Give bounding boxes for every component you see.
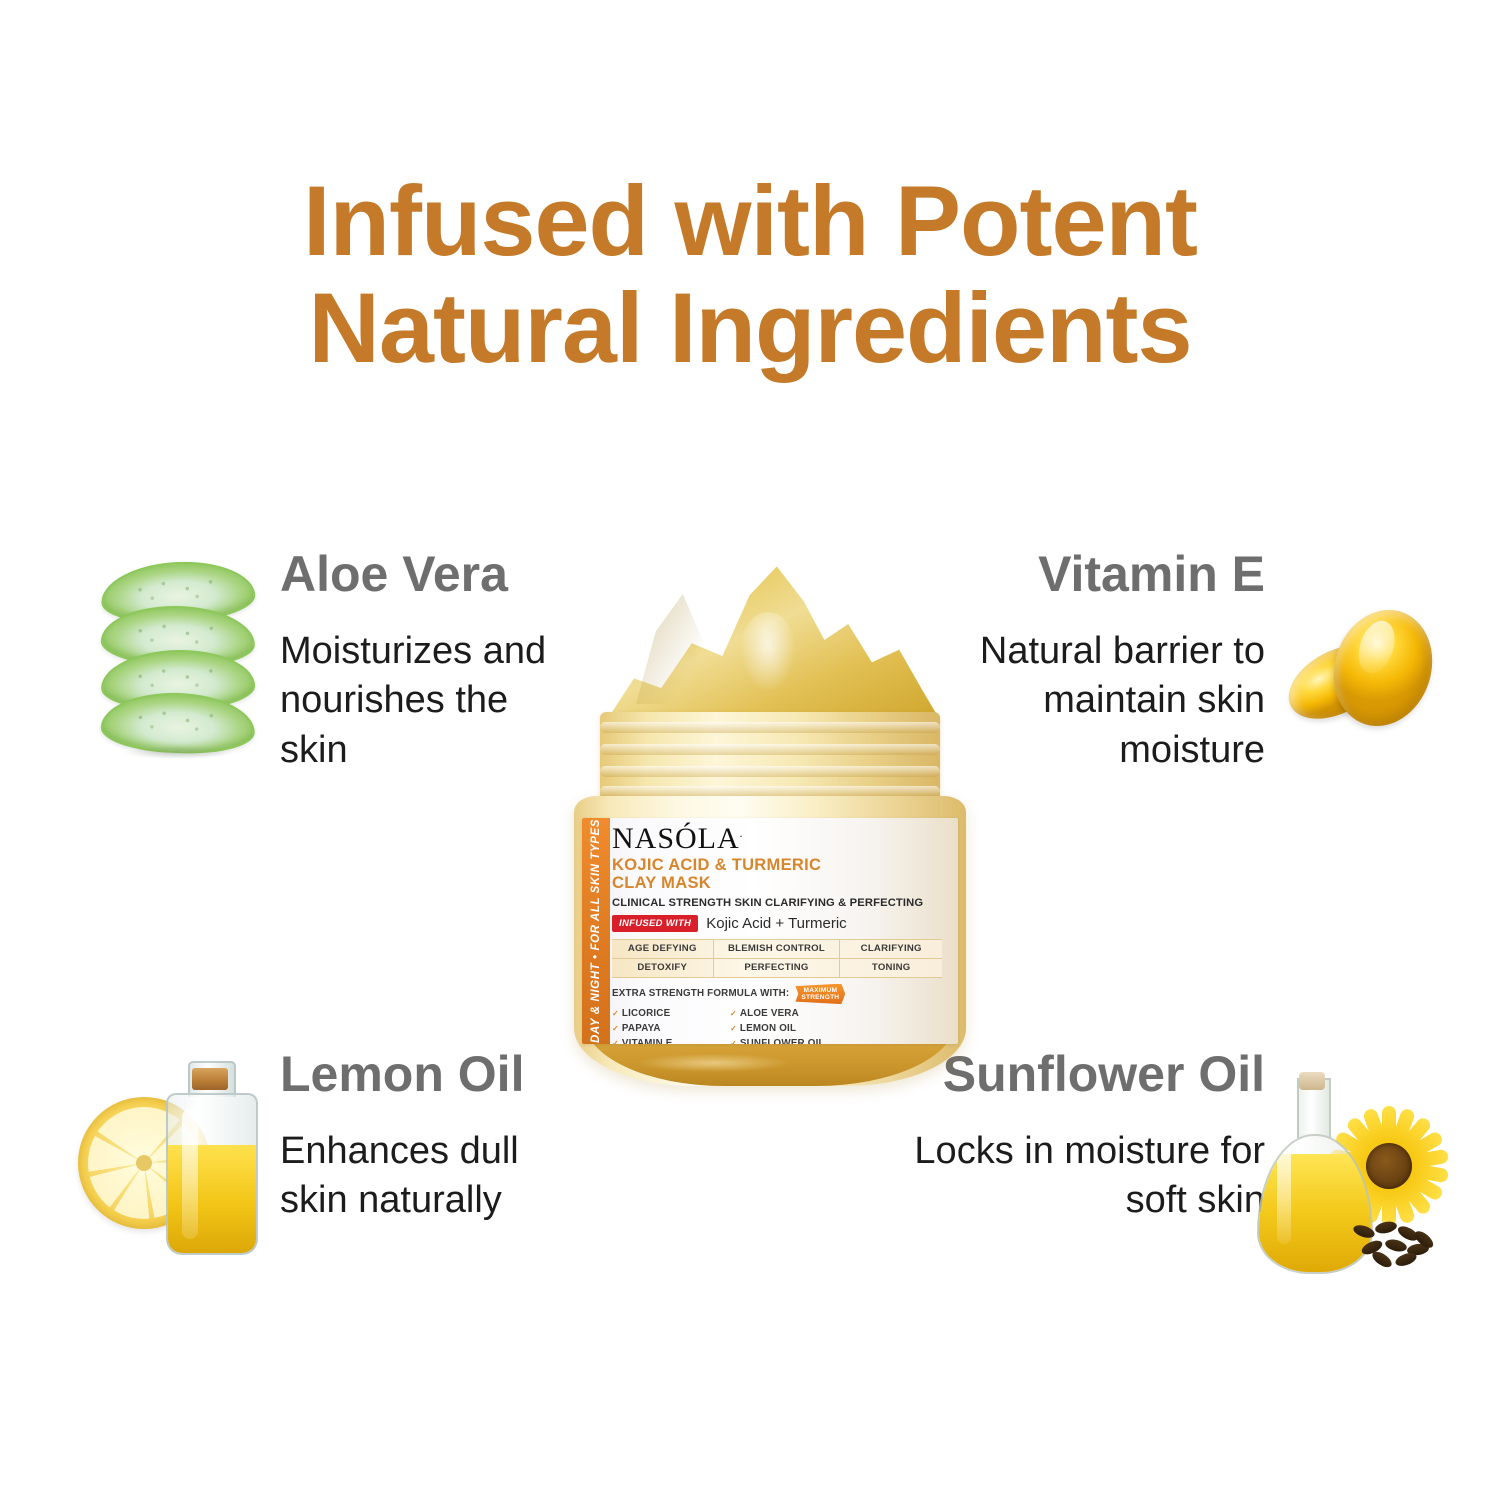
formula-label: EXTRA STRENGTH FORMULA WITH: [612,988,789,999]
clay-highlight [740,612,796,692]
ingredient-item: SUNFLOWER OIL [730,1036,825,1044]
clay-mask-product [600,560,940,720]
sunflower-seed [1394,1251,1418,1269]
benefit-cell: TONING [840,958,942,977]
feature-lemon-oil: Lemon Oil Enhances dull skin naturally [280,1048,580,1226]
ingredients-left-column: LICORICE PAPAYA VITAMIN E [612,1006,724,1044]
feature-description: Enhances dull skin naturally [280,1127,580,1226]
lemon-oil-bottle-icon [78,1055,268,1260]
formula-row: EXTRA STRENGTH FORMULA WITH: MAXIMUM STR… [612,984,952,1005]
infused-with-badge: INFUSED WITH [612,915,698,932]
benefits-grid: AGE DEFYING BLEMISH CONTROL CLARIFYING D… [612,939,942,978]
max-badge-line-1: MAXIMUM [804,987,838,994]
benefit-cell: DETOXIFY [612,958,714,977]
side-band-text: DAY & NIGHT • FOR ALL SKIN TYPES [590,819,602,1043]
ingredients-columns: LICORICE PAPAYA VITAMIN E ALOE VERA LEMO… [612,1006,952,1044]
label-side-band: DAY & NIGHT • FOR ALL SKIN TYPES [582,818,610,1044]
sunflower-seed [1370,1249,1394,1270]
benefit-cell: AGE DEFYING [612,940,714,958]
page-title: Infused with Potent Natural Ingredients [0,168,1500,382]
ingredient-item: LICORICE [612,1006,724,1021]
jar-thread [600,766,940,777]
feature-title: Vitamin E [935,548,1265,601]
oil-bottle [162,1061,258,1253]
product-jar: DAY & NIGHT • FOR ALL SKIN TYPES NASÓLA.… [570,560,970,1100]
ingredient-item: PAPAYA [612,1021,724,1036]
max-badge-line-2: STRENGTH [801,994,839,1001]
clay-shadow [636,594,726,704]
bottle-gloss [182,1109,198,1239]
product-name: KOJIC ACID & TURMERIC CLAY MASK [612,857,952,893]
bottle-cork [192,1068,228,1090]
infused-with-row: INFUSED WITH Kojic Acid + Turmeric [612,915,952,932]
benefit-cell: PERFECTING [714,958,841,977]
product-tagline: CLINICAL STRENGTH SKIN CLARIFYING & PERF… [612,897,952,909]
sunflower-seed [1384,1238,1408,1254]
bottle-body [166,1093,258,1255]
carafe-gloss [1277,1148,1291,1244]
jar-thread [600,722,940,733]
maximum-strength-badge: MAXIMUM STRENGTH [795,984,845,1005]
brand-logo: NASÓLA. [612,824,952,854]
product-name-line-2: CLAY MASK [612,875,952,893]
ingredient-item: VITAMIN E [612,1036,724,1044]
ingredient-item: ALOE VERA [730,1006,825,1021]
sunflower-seeds [1351,1220,1435,1264]
feature-vitamin-e: Vitamin E Natural barrier to maintain sk… [935,548,1265,775]
aloe-vera-slices-icon [95,560,260,750]
sunflower-seed [1374,1220,1398,1235]
headline-line-2: Natural Ingredients [0,275,1500,382]
jar-thread [600,744,940,755]
sunflower-oil-carafe-icon [1255,1072,1445,1282]
feature-description: Moisturizes and nourishes the skin [280,627,580,775]
infused-with-text: Kojic Acid + Turmeric [706,915,846,932]
feature-description: Locks in moisture for soft skin [900,1127,1265,1226]
headline-line-1: Infused with Potent [303,165,1197,276]
infographic-canvas: Infused with Potent Natural Ingredients … [0,0,1500,1500]
jar-neck-threads [600,712,940,804]
brand-mark: . [740,828,744,840]
benefit-cell: CLARIFYING [840,940,942,958]
sunflower-seed [1352,1223,1376,1240]
vitamin-e-capsules-icon [1283,603,1433,733]
aloe-shadow [123,746,231,759]
benefit-cell: BLEMISH CONTROL [714,940,841,958]
carafe-cork [1299,1072,1325,1090]
brand-name: NASÓLA [612,822,740,855]
product-label: DAY & NIGHT • FOR ALL SKIN TYPES NASÓLA.… [582,818,958,1044]
ingredient-item: LEMON OIL [730,1021,825,1036]
ingredients-right-column: ALOE VERA LEMON OIL SUNFLOWER OIL [730,1006,825,1044]
feature-aloe-vera: Aloe Vera Moisturizes and nourishes the … [280,548,580,775]
feature-description: Natural barrier to maintain skin moistur… [935,627,1265,775]
jar-base-highlight [638,1054,788,1072]
feature-title: Lemon Oil [280,1048,580,1101]
feature-title: Aloe Vera [280,548,580,601]
capsule [1319,597,1447,739]
product-name-line-1: KOJIC ACID & TURMERIC [612,857,952,875]
